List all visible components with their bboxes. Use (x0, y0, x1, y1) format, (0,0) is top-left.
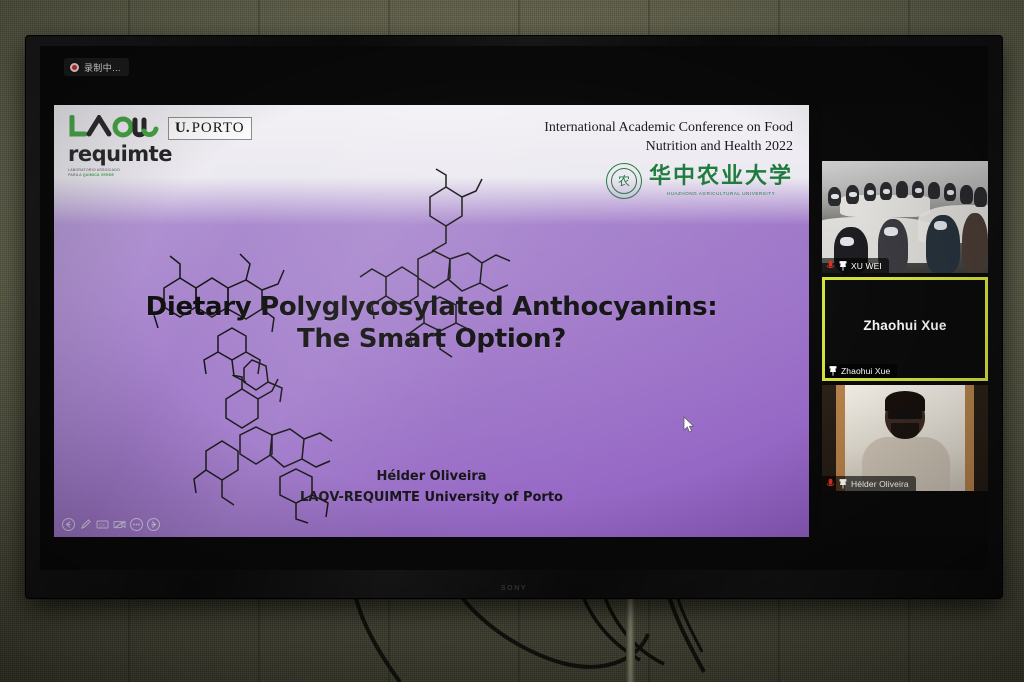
mic-muted-icon (826, 260, 835, 271)
conference-room-video (822, 161, 988, 273)
recording-badge: 录制中… (64, 58, 129, 76)
uporto-wordmark: PORTO (192, 120, 245, 137)
laqv-wordmark: requimte (68, 144, 168, 165)
slide-title: Dietary Polyglycosylated Anthocyanins: T… (54, 292, 809, 355)
uporto-u-mark: U. (175, 120, 190, 137)
conference-header: International Academic Conference on Foo… (463, 119, 793, 199)
author-name: Hélder Oliveira (54, 467, 809, 488)
stop-video-icon[interactable] (113, 518, 126, 531)
participant-display-name: Zhaohui Xue (825, 318, 985, 333)
slide-title-line2: The Smart Option? (54, 324, 809, 356)
presentation-slide[interactable]: requimte LABORATORIO ASSOCIADO PARA A QU… (54, 105, 809, 537)
uporto-logo: U. PORTO (168, 117, 252, 140)
laqv-tagline-line1: LABORATORIO ASSOCIADO (68, 168, 120, 172)
participant-video-panel: XU WEI Zhaohui Xue Zhaohui Xue (822, 105, 988, 537)
television: SONY 录制中… (26, 36, 1002, 598)
mic-muted-icon (826, 478, 835, 489)
laqv-tagline: LABORATORIO ASSOCIADO PARA A QUIMICA VER… (68, 168, 168, 179)
hzau-seal-glyph: 农 (611, 168, 637, 194)
pin-icon (839, 261, 847, 271)
previous-slide-icon[interactable] (62, 518, 75, 531)
meeting-room-scene: SONY 录制中… (0, 0, 1024, 682)
participant-name: XU WEI (851, 261, 882, 271)
laqv-logo: requimte LABORATORIO ASSOCIADO PARA A QU… (68, 115, 168, 179)
laqv-mark-icon (68, 115, 164, 139)
hzau-logo: 农 华中农业大学 HUAZHONG AGRICULTURAL UNIVERSIT… (463, 163, 793, 199)
author-affiliation: LAQV-REQUIMTE University of Porto (54, 488, 809, 509)
closed-captions-icon[interactable]: CC (96, 518, 109, 531)
presentation-toolbar[interactable]: CC (62, 518, 160, 531)
tv-brand-logo: SONY (501, 585, 527, 592)
conference-title-line1: International Academic Conference on Foo… (463, 119, 793, 138)
participant-tile-xu-wei[interactable]: XU WEI (822, 161, 988, 273)
participant-tile-zhaohui-xue[interactable]: Zhaohui Xue Zhaohui Xue (822, 277, 988, 381)
laqv-tagline-line3: QUIMICA VERDE (83, 173, 114, 177)
participant-name: Hélder Oliveira (851, 479, 909, 489)
more-options-icon[interactable] (130, 518, 143, 531)
pin-icon (829, 366, 837, 376)
participant-name-bar: XU WEI (822, 258, 889, 273)
tv-stand-post (626, 592, 635, 682)
svg-text:CC: CC (99, 522, 106, 527)
participant-tile-helder-oliveira[interactable]: Hélder Oliveira (822, 385, 988, 491)
participant-name-bar: Zhaohui Xue (825, 364, 897, 378)
next-slide-icon[interactable] (147, 518, 160, 531)
recording-label: 录制中… (84, 61, 121, 74)
hzau-seal-icon: 农 (606, 163, 642, 199)
participant-name: Zhaohui Xue (841, 366, 890, 376)
recording-dot-icon (70, 63, 79, 72)
hzau-name-en: HUAZHONG AGRICULTURAL UNIVERSITY (649, 191, 793, 196)
laqv-tagline-line2: PARA A (68, 173, 82, 177)
participant-name-bar: Hélder Oliveira (822, 476, 916, 491)
tv-screen: 录制中… (40, 46, 988, 570)
pin-icon (839, 479, 847, 489)
pen-annotation-icon[interactable] (79, 518, 92, 531)
slide-author-block: Hélder Oliveira LAQV-REQUIMTE University… (54, 467, 809, 509)
conference-title-line2: Nutrition and Health 2022 (463, 138, 793, 157)
slide-title-line1: Dietary Polyglycosylated Anthocyanins: (54, 292, 809, 324)
hzau-name-cn: 华中农业大学 (649, 166, 793, 188)
